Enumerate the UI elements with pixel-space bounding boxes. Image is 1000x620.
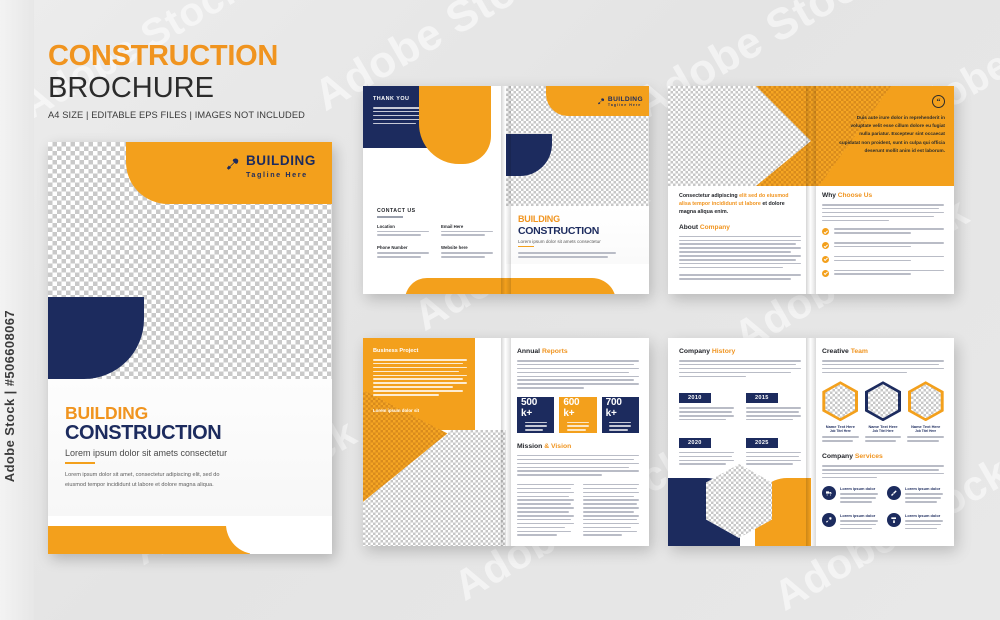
title-line-2: BROCHURE [48, 73, 328, 103]
about-title-orange: Company [700, 224, 730, 231]
annual-reports-page[interactable]: Annual Reports 500 k+ 600 k+ [506, 338, 649, 546]
service-title: Lorem ipsum dolor [840, 486, 878, 491]
drill-icon [887, 486, 901, 500]
business-project-body [373, 359, 467, 396]
cover-subtitle: Lorem ipsum dolor sit amets consectetur [65, 448, 315, 458]
about-lead-dark: Consectetur adipiscing [679, 193, 738, 199]
timeline-body [679, 452, 734, 465]
front-cover-paragraph [518, 252, 616, 257]
team-member: Name Text Here Job Titel Here [822, 381, 859, 444]
creative-team-page[interactable]: Creative Team Name Text Here Job Titel H… [811, 338, 954, 546]
stat-value: 700 k+ [606, 397, 635, 419]
brand-tagline: Tagline Here [246, 170, 316, 179]
quote-text: Duis aute irure dolor in reprehenderit i… [839, 114, 945, 155]
about-title: About Company [679, 224, 801, 231]
front-cover-logo: BUILDING Tagline Here [597, 92, 643, 110]
contact-item-label: Website here [441, 245, 493, 250]
timeline-year: 2025 [746, 438, 778, 448]
contact-item-label: Location [377, 224, 429, 229]
creative-team-title: Creative Team [822, 348, 944, 355]
contact-item-label: Phone Number [377, 245, 429, 250]
vision-column [583, 484, 640, 538]
mission-title-orange: & Vision [544, 443, 571, 450]
cover-heading-navy: CONSTRUCTION [65, 423, 315, 444]
timeline-body [679, 407, 734, 420]
spread-gutter [806, 338, 816, 546]
cover-footer-orange-bar [48, 526, 226, 554]
check-icon [822, 242, 829, 249]
business-project-caption: Lorem ipsum dolor sit [373, 408, 467, 413]
back-cover-footer-shape [405, 278, 506, 294]
timeline-item: 2010 [679, 386, 734, 423]
why-title: Why Choose Us [822, 192, 944, 199]
service-title: Lorem ipsum dolor [840, 513, 878, 518]
why-list-item-text [834, 256, 944, 264]
creative-team-body [822, 360, 944, 373]
contact-item: Website here [441, 245, 493, 260]
company-services-title: Company Services [822, 453, 944, 460]
contact-item: Phone Number [377, 245, 429, 260]
timeline-item: 2025 [746, 431, 801, 468]
hammer-icon [597, 92, 605, 110]
mission-vision-title: Mission & Vision [517, 443, 639, 450]
spread-reports[interactable]: Business Project Lorem ipsum dolor sit A… [363, 338, 649, 546]
team-member-role: Job Titel Here [907, 429, 944, 433]
hammer-icon [225, 156, 240, 176]
cover-footer-band [48, 516, 332, 554]
history-title-orange: History [712, 348, 735, 355]
company-history-title: Company History [679, 348, 801, 355]
back-cover-orange-shape [419, 86, 491, 164]
front-cover-subtitle: Lorem ipsum dolor sit amets consectetur [518, 239, 642, 244]
service-item: Lorem ipsum dolor [887, 513, 943, 532]
contact-item: Email Here [441, 224, 493, 239]
business-project-title: Business Project [373, 348, 467, 354]
spread-about[interactable]: Consectetur adipiscing elit sed do eiusm… [668, 86, 954, 294]
mission-vision-body [517, 455, 639, 476]
front-cover-heading-orange: BUILDING [518, 214, 642, 224]
spread-back-front[interactable]: THANK YOU CONTACT US Location [363, 86, 649, 294]
services-title-dark: Company [822, 453, 853, 460]
hammer-icon [822, 513, 836, 527]
stock-id-label: Adobe Stock | #506608067 [2, 310, 17, 482]
annual-title-dark: Annual [517, 348, 540, 355]
about-page[interactable]: Consectetur adipiscing elit sed do eiusm… [668, 86, 811, 294]
mission-column [517, 484, 574, 538]
brand-tagline: Tagline Here [608, 103, 643, 107]
why-choose-us-page[interactable]: “ Duis aute irure dolor in reprehenderit… [811, 86, 954, 294]
title-meta: A4 SIZE | EDITABLE EPS FILES | IMAGES NO… [48, 110, 328, 120]
check-icon [822, 256, 829, 263]
title-line-1: CONSTRUCTION [48, 42, 328, 71]
spread-gutter [501, 86, 511, 294]
team-title-orange: Team [851, 348, 868, 355]
cover-rule [65, 462, 95, 464]
why-body [822, 204, 944, 221]
history-hex-photo-placeholder [706, 464, 772, 538]
service-item: Lorem ipsum dolor [822, 486, 878, 505]
front-cover-page[interactable]: BUILDING Tagline Here BUILDING CONSTRUCT… [506, 86, 649, 294]
business-project-page[interactable]: Business Project Lorem ipsum dolor sit [363, 338, 506, 546]
stat-value: 600 k+ [563, 397, 592, 419]
timeline-body [746, 452, 801, 465]
spread-gutter [806, 86, 816, 294]
team-member: Name Text Here Job Titel Here [865, 381, 902, 444]
stat-card: 600 k+ [559, 397, 596, 433]
annual-reports-title: Annual Reports [517, 348, 639, 355]
why-list-item [822, 256, 944, 264]
cover-paragraph: Lorem ipsum dolor sit amet, consectetur … [65, 471, 240, 491]
history-title-dark: Company [679, 348, 710, 355]
cover-logo: BUILDING Tagline Here [225, 154, 316, 179]
front-cover-footer-shape [506, 278, 616, 294]
brand-name: BUILDING [246, 154, 316, 168]
paint-roller-icon [887, 513, 901, 527]
company-services-body [822, 465, 944, 478]
why-title-dark: Why [822, 192, 836, 199]
stat-caption [525, 422, 547, 434]
truck-icon [822, 486, 836, 500]
timeline-year: 2015 [746, 393, 778, 403]
service-item: Lorem ipsum dolor [822, 513, 878, 532]
company-history-body [679, 360, 801, 377]
stat-caption [567, 422, 589, 434]
cover-headline-group: BUILDING CONSTRUCTION Lorem ipsum dolor … [65, 404, 315, 491]
why-title-orange: Choose Us [838, 192, 872, 199]
front-cover-heading-navy: CONSTRUCTION [518, 225, 642, 237]
spread-gutter [501, 338, 511, 546]
team-member: Name Text Here Job Titel Here [907, 381, 944, 444]
service-title: Lorem ipsum dolor [905, 513, 943, 518]
why-list-item-text [834, 228, 944, 236]
why-list-item-text [834, 270, 944, 278]
mission-title-dark: Mission [517, 443, 542, 450]
why-list-item-text [834, 242, 944, 250]
brochure-mockup-canvas: Adobe Stock Adobe Stock Adobe Stock Adob… [0, 0, 1000, 620]
stats-row: 500 k+ 600 k+ 700 k+ [517, 397, 639, 433]
service-title: Lorem ipsum dolor [905, 486, 943, 491]
annual-reports-body [517, 360, 639, 389]
stat-card: 700 k+ [602, 397, 639, 433]
timeline-year: 2020 [679, 438, 711, 448]
timeline-year: 2010 [679, 393, 711, 403]
why-list-item [822, 242, 944, 250]
brand-name: BUILDING [608, 96, 643, 103]
team-title-dark: Creative [822, 348, 849, 355]
company-history-page[interactable]: Company History 2010 2015 [668, 338, 811, 546]
services-title-orange: Services [855, 453, 883, 460]
check-icon [822, 228, 829, 235]
spread-history-team[interactable]: Company History 2010 2015 [668, 338, 954, 546]
annual-title-orange: Reports [542, 348, 568, 355]
timeline-item: 2015 [746, 386, 801, 423]
team-member-role: Job Titel Here [822, 429, 859, 433]
stock-id-strip: Adobe Stock | #506608067 [0, 0, 34, 620]
stat-value: 500 k+ [521, 397, 550, 419]
contact-item: Location [377, 224, 429, 239]
timeline-item: 2020 [679, 431, 734, 468]
contact-item-label: Email Here [441, 224, 493, 229]
cover-logo-text: BUILDING Tagline Here [246, 154, 316, 179]
timeline-body [746, 407, 801, 420]
check-icon [822, 270, 829, 277]
about-body [679, 236, 801, 269]
cover-heading-orange: BUILDING [65, 404, 315, 422]
why-list-item [822, 228, 944, 236]
stat-caption [609, 422, 631, 434]
quote-icon: “ [932, 95, 945, 108]
page-title: CONSTRUCTION BROCHURE A4 SIZE | EDITABLE… [48, 42, 328, 120]
about-title-dark: About [679, 224, 698, 231]
about-lead: Consectetur adipiscing elit sed do eiusm… [679, 192, 801, 217]
team-member-role: Job Titel Here [865, 429, 902, 433]
why-list-item [822, 270, 944, 278]
service-item: Lorem ipsum dolor [887, 486, 943, 505]
stat-card: 500 k+ [517, 397, 554, 433]
cover-page[interactable]: BUILDING Tagline Here BUILDING CONSTRUCT… [48, 142, 332, 554]
back-cover-page[interactable]: THANK YOU CONTACT US Location [363, 86, 506, 294]
contact-title: CONTACT US [377, 208, 497, 214]
